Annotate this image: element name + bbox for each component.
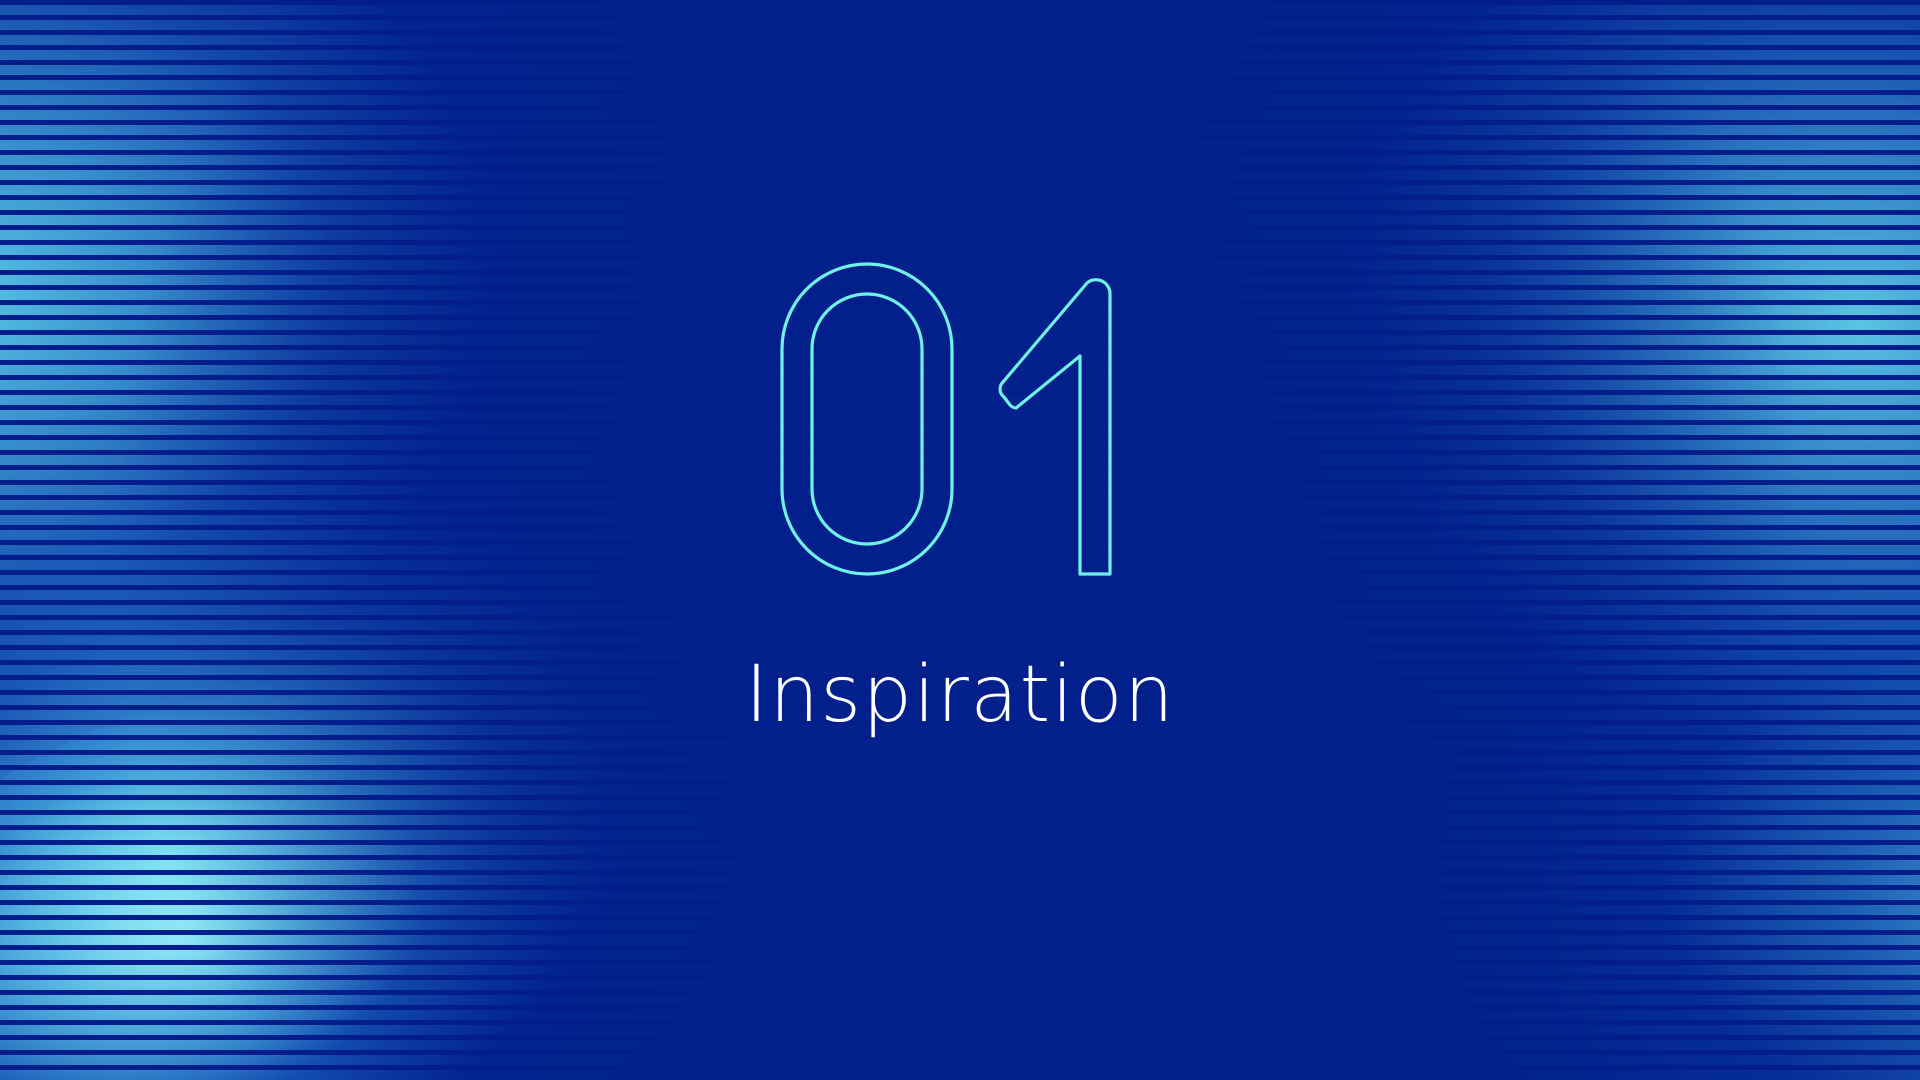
- slide-content: Inspiration: [0, 0, 1920, 1080]
- numeral-01-svg: [760, 252, 1160, 592]
- slide-root: Inspiration: [0, 0, 1920, 1080]
- section-caption: Inspiration: [745, 656, 1175, 734]
- digit-one-outline: [1000, 280, 1110, 574]
- section-number-graphic: [760, 252, 1160, 592]
- digit-zero-outer-outline: [782, 264, 952, 574]
- digit-zero-inner-outline: [812, 294, 922, 544]
